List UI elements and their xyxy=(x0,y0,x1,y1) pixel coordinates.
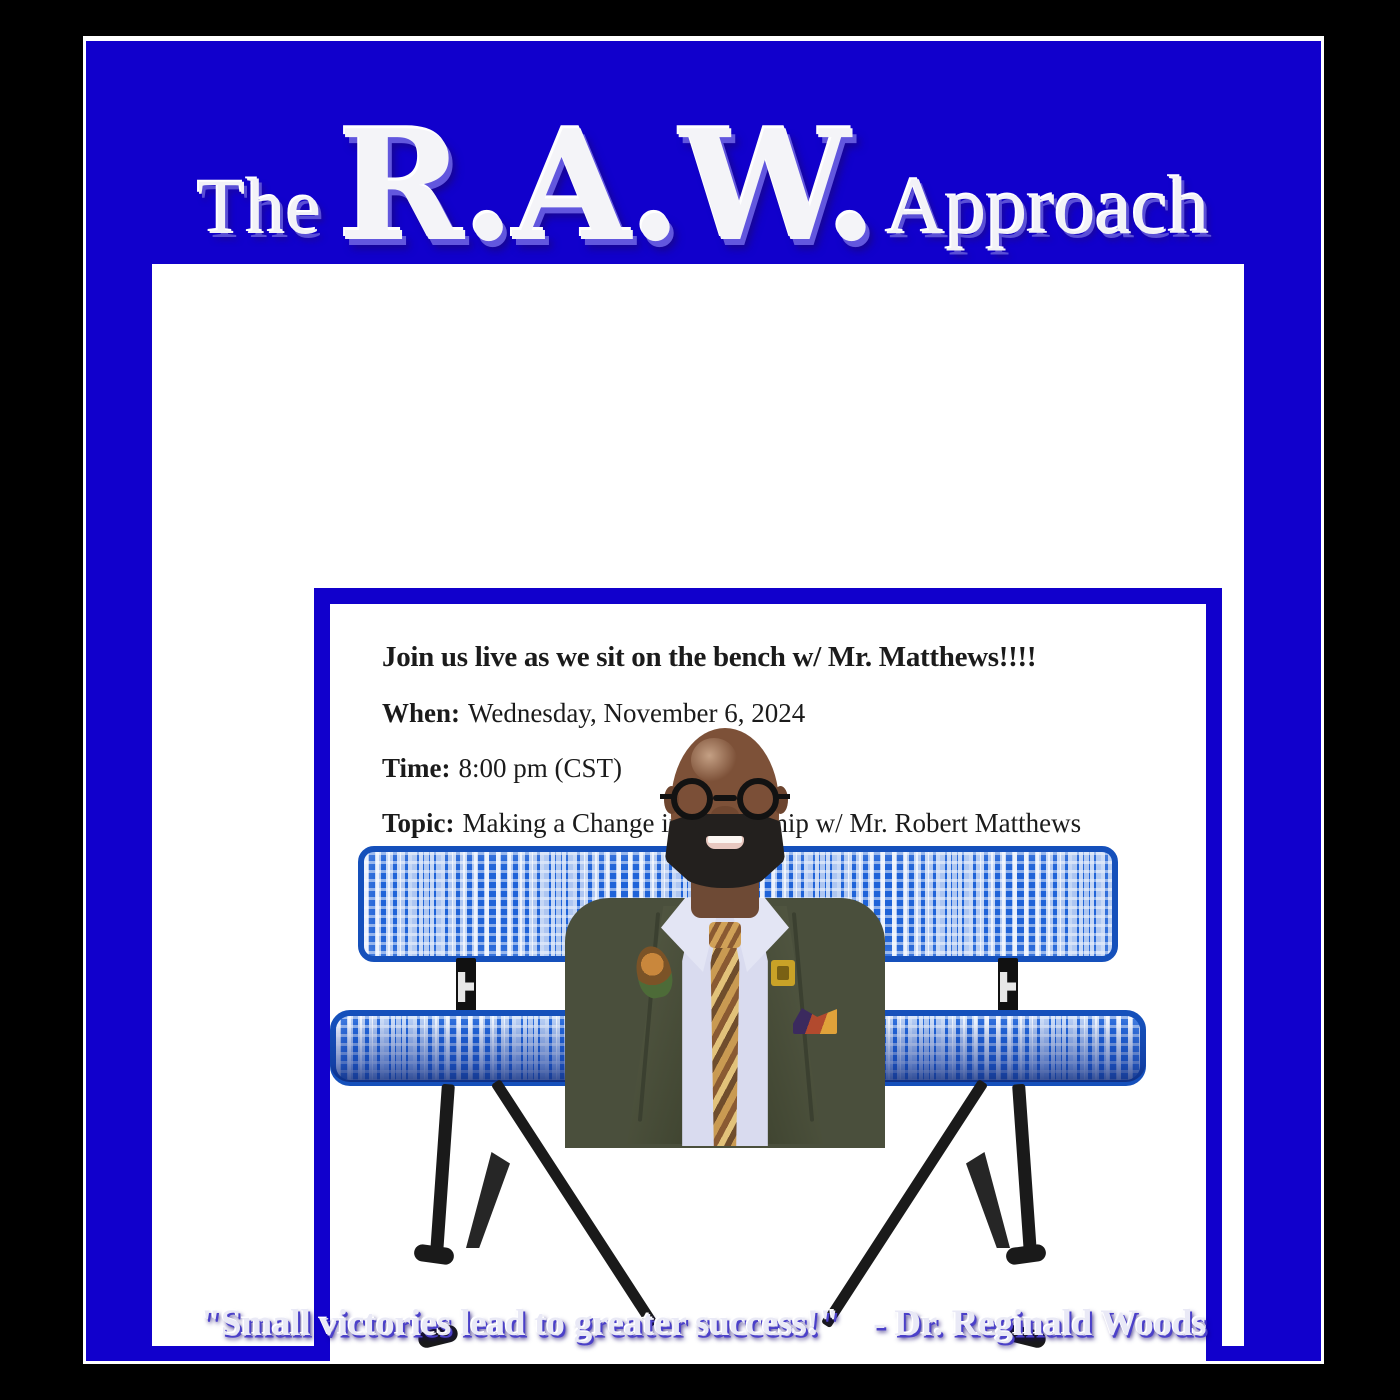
title-prefix: The xyxy=(198,168,322,246)
inner-white-card: Join us live as we sit on the bench w/ M… xyxy=(330,604,1206,1361)
event-headline: Join us live as we sit on the bench w/ M… xyxy=(382,641,1162,674)
bench-foot-front-left xyxy=(413,1243,455,1265)
mustache xyxy=(695,818,755,834)
flyer-canvas: The R.A.W. Approach Join us live as we s… xyxy=(0,0,1400,1400)
eyeglass-lens-right xyxy=(737,778,779,820)
teeth xyxy=(708,836,742,843)
poster-title-band: The R.A.W. Approach xyxy=(86,41,1321,264)
footer-quote-text: "Small victories lead to greater success… xyxy=(201,1302,840,1345)
lapel-pin-icon xyxy=(771,960,795,986)
bench-foot-brace-left xyxy=(466,1152,510,1248)
footer-quote-bar: "Small victories lead to greater success… xyxy=(86,1285,1321,1361)
eyeglass-temple-right xyxy=(777,794,790,799)
eyeglass-lens-left xyxy=(671,778,713,820)
poster-blue-background: The R.A.W. Approach Join us live as we s… xyxy=(86,41,1321,1361)
round-eyeglasses-icon xyxy=(661,778,789,820)
necktie-knot xyxy=(709,922,741,948)
title-suffix: Approach xyxy=(886,165,1209,247)
head-highlight xyxy=(691,738,737,782)
bench-leg-right xyxy=(1012,1084,1037,1254)
poster-title: The R.A.W. Approach xyxy=(198,104,1210,264)
eyeglass-temple-left xyxy=(660,794,673,799)
bench-photo-scene xyxy=(330,722,1206,1361)
bench-bracket-left-icon xyxy=(458,972,474,1002)
mouth xyxy=(706,836,744,849)
eyeglass-bridge xyxy=(713,795,737,801)
inner-blue-frame: Join us live as we sit on the bench w/ M… xyxy=(314,588,1222,1361)
person-portrait xyxy=(565,722,885,1146)
bench-foot-front-right xyxy=(1005,1243,1047,1265)
footer-quote-author: - Dr. Reginald Woods xyxy=(873,1302,1206,1345)
bench-leg-left xyxy=(430,1084,455,1254)
bench-foot-brace-right xyxy=(966,1152,1010,1248)
white-content-panel: Join us live as we sit on the bench w/ M… xyxy=(152,264,1244,1346)
title-acronym: R.A.W. xyxy=(338,110,876,262)
bench-bracket-right-icon xyxy=(1000,972,1016,1002)
